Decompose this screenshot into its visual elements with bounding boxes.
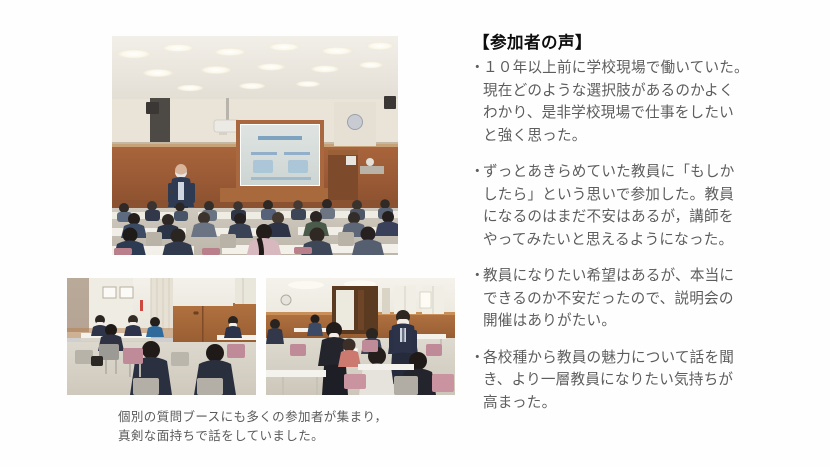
- lecture-hall-photo: [112, 36, 398, 255]
- bullet-icon: ・: [470, 57, 483, 80]
- participant-voices-panel: 【参加者の声】 ・ １０年以上前に学校現場で働いていた。 現在どのような選択肢が…: [470, 32, 812, 428]
- voice-text: １０年以上前に学校現場で働いていた。 現在どのような選択肢があるのかよく わかり…: [483, 57, 812, 147]
- voice-item: ・ 各校種から教員の魅力について話を聞 き、より一層教員になりたい気持ちが 高ま…: [470, 347, 812, 415]
- voice-item: ・ 教員になりたい希望はあるが、本当に できるのか不安だったので、説明会の 開催…: [470, 265, 812, 333]
- lecture-hall-photo-graphic: [112, 36, 398, 255]
- voice-text: 各校種から教員の魅力について話を聞 き、より一層教員になりたい気持ちが 高まった…: [483, 347, 812, 415]
- bullet-icon: ・: [470, 265, 483, 288]
- photo-caption: 個別の質問ブースにも多くの参加者が集まり， 真剣な面持ちで話をしていました。: [118, 408, 458, 446]
- voice-item: ・ ずっとあきらめていた教員に「もしか したら」という思いで参加した。教員 にな…: [470, 161, 812, 251]
- question-booth-photo-right: [266, 278, 455, 395]
- voice-text: ずっとあきらめていた教員に「もしか したら」という思いで参加した。教員 になるの…: [483, 161, 812, 251]
- voice-item: ・ １０年以上前に学校現場で働いていた。 現在どのような選択肢があるのかよく わ…: [470, 57, 812, 147]
- bullet-icon: ・: [470, 161, 483, 184]
- question-booth-photo-left: [67, 278, 256, 395]
- participant-voices-heading: 【参加者の声】: [470, 32, 812, 54]
- voice-text: 教員になりたい希望はあるが、本当に できるのか不安だったので、説明会の 開催はあ…: [483, 265, 812, 333]
- bullet-icon: ・: [470, 347, 483, 370]
- question-booth-left-graphic: [67, 278, 256, 395]
- question-booth-right-graphic: [266, 278, 455, 395]
- slide-canvas: 個別の質問ブースにも多くの参加者が集まり， 真剣な面持ちで話をしていました。 【…: [0, 0, 830, 467]
